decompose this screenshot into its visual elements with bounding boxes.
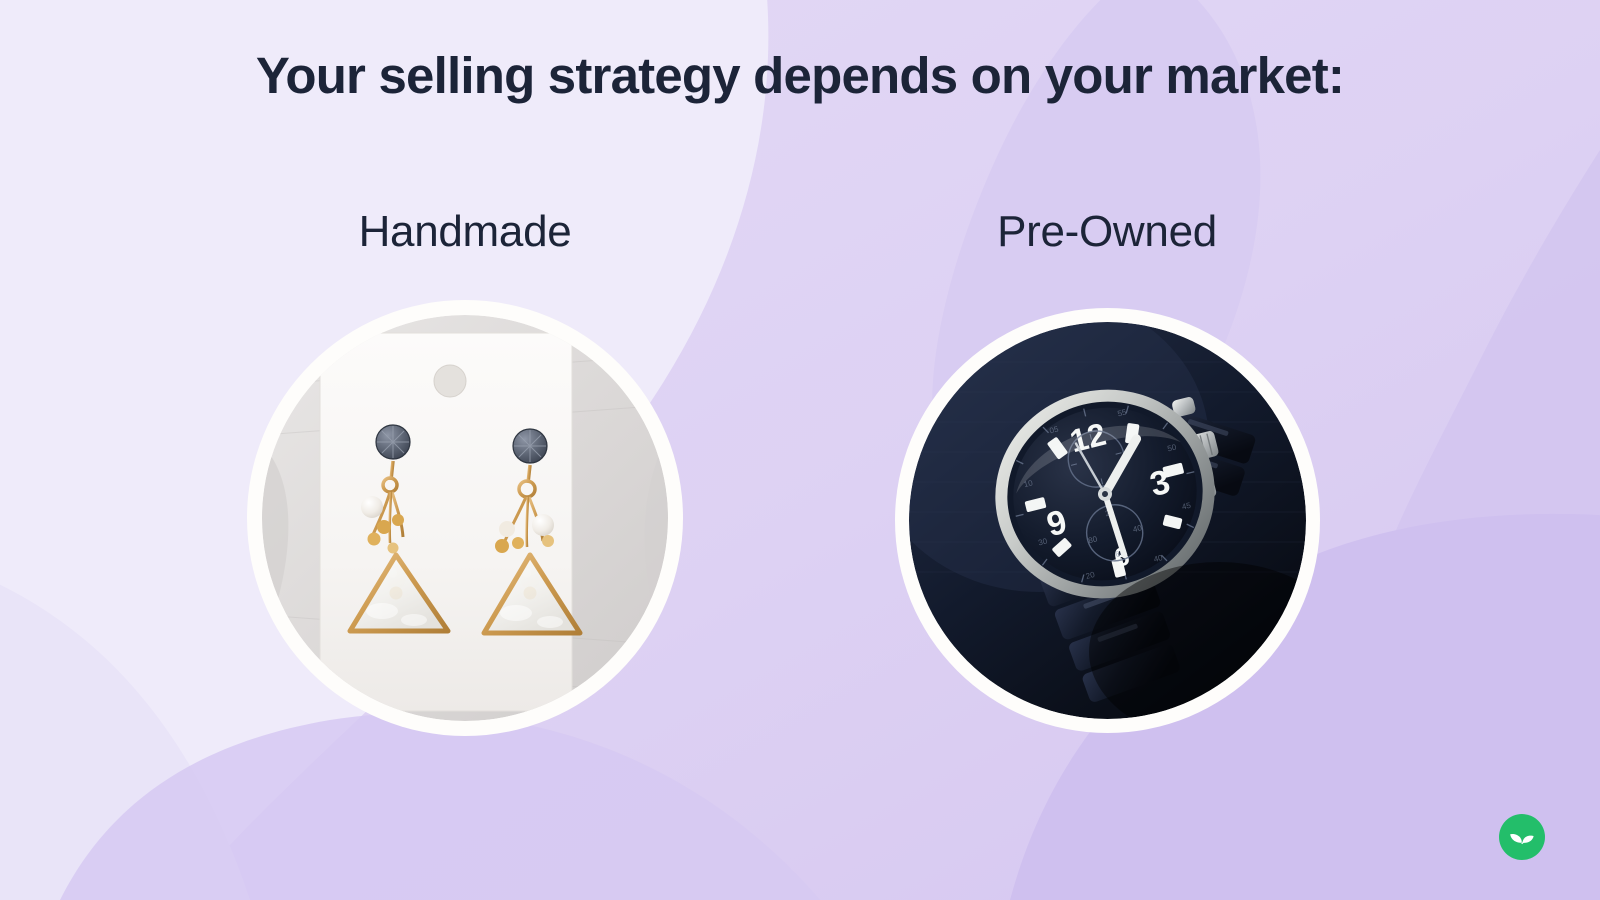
background-blob-light-bottomleft: [0, 560, 250, 900]
background-decoration: [0, 0, 1600, 900]
brand-badge[interactable]: [1499, 814, 1545, 860]
background-blob-dark-right: [1341, 60, 1600, 900]
product-image-handmade-inner: [262, 315, 668, 721]
product-image-pre-owned-inner: 0555 5045 4020 3010: [909, 322, 1306, 719]
column-label-pre-owned: Pre-Owned: [885, 206, 1329, 259]
wristwatch-illustration: 0555 5045 4020 3010: [909, 322, 1306, 719]
background-blob-dark-bottomleft: [60, 713, 820, 900]
column-handmade: Handmade: [243, 206, 687, 259]
column-label-handmade: Handmade: [243, 206, 687, 259]
product-image-handmade[interactable]: [247, 300, 683, 736]
column-pre-owned: Pre-Owned: [885, 206, 1329, 259]
sprout-leaf-icon: [1508, 823, 1536, 851]
page-title: Your selling strategy depends on your ma…: [0, 48, 1600, 104]
slide-canvas: Your selling strategy depends on your ma…: [0, 0, 1600, 900]
earrings-illustration: [262, 315, 668, 721]
background-blobs: [0, 0, 1600, 900]
product-image-pre-owned[interactable]: 0555 5045 4020 3010: [895, 308, 1320, 733]
background-base: [0, 0, 1600, 900]
